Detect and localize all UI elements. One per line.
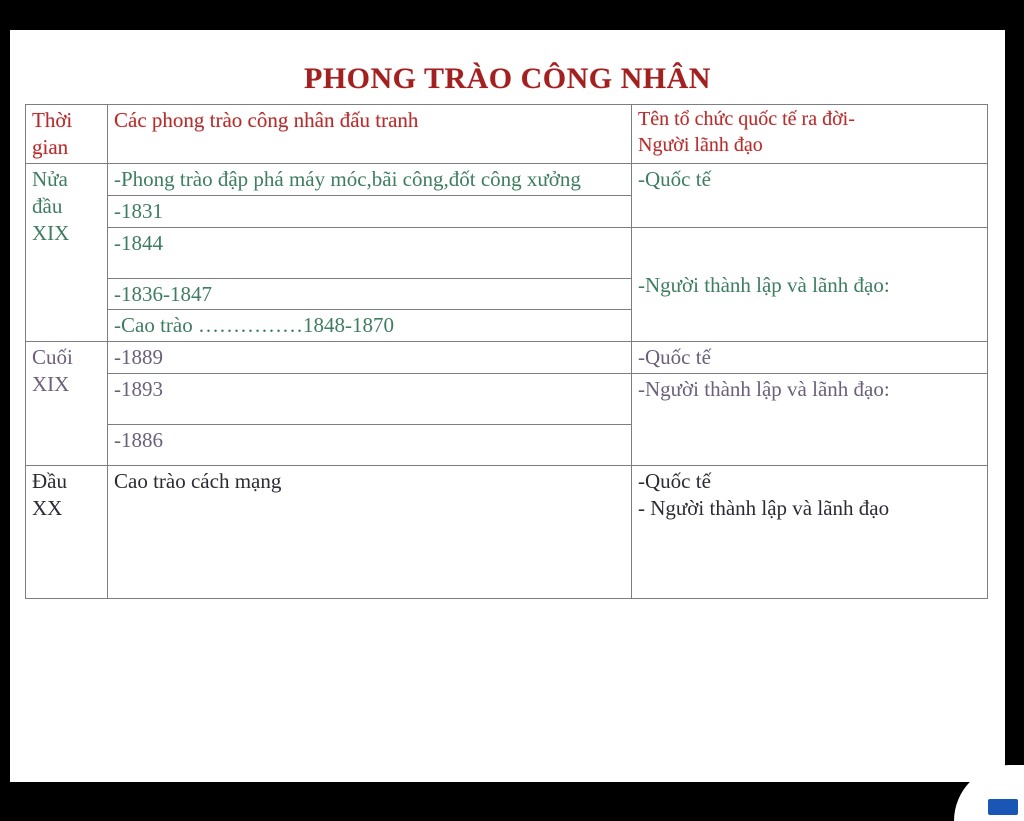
movement-cell: Cao trào cách mạng bbox=[108, 466, 632, 599]
page-title: PHONG TRÀO CÔNG NHÂN bbox=[10, 62, 1005, 96]
table-row: Nửa đầu XIX -Phong trào đập phá máy móc,… bbox=[26, 163, 988, 195]
period-cell-nua-dau-xix: Nửa đầu XIX bbox=[26, 163, 108, 342]
table-row: Đầu XX Cao trào cách mạng -Quốc tế - Ngư… bbox=[26, 466, 988, 599]
column-header-organization-line1: Tên tổ chức quốc tế ra đời- bbox=[638, 107, 981, 133]
column-header-organization-line2: Người lãnh đạo bbox=[638, 133, 981, 159]
period-cell-dau-xx: Đầu XX bbox=[26, 466, 108, 599]
movement-cell: -1886 bbox=[108, 425, 632, 466]
movement-cell: -Cao trào ……………1848-1870 bbox=[108, 310, 632, 342]
column-header-organization: Tên tổ chức quốc tế ra đời- Người lãnh đ… bbox=[632, 105, 988, 164]
table-row: -1844 -Người thành lập và lãnh đạo: bbox=[26, 227, 988, 278]
organization-cell-line1: -Quốc tế bbox=[632, 342, 988, 374]
document-page: PHONG TRÀO CÔNG NHÂN Thời gian Các phong… bbox=[10, 30, 1005, 782]
movement-cell: -1889 bbox=[108, 342, 632, 374]
movement-cell: -1831 bbox=[108, 195, 632, 227]
organization-line1: -Quốc tế bbox=[638, 468, 981, 495]
organization-cell-line2: -Người thành lập và lãnh đạo: bbox=[632, 374, 988, 466]
organization-line2: - Người thành lập và lãnh đạo bbox=[638, 495, 981, 522]
table-row: -1893 -Người thành lập và lãnh đạo: bbox=[26, 374, 988, 425]
period-line: đầu bbox=[32, 193, 101, 220]
movement-cell: -Phong trào đập phá máy móc,bãi công,đốt… bbox=[108, 163, 632, 195]
period-line: Đầu bbox=[32, 468, 101, 495]
organization-cell-line2: -Người thành lập và lãnh đạo: bbox=[632, 227, 988, 342]
period-line: XIX bbox=[32, 371, 101, 398]
period-line: Cuối bbox=[32, 344, 101, 371]
movement-cell: -1893 bbox=[108, 374, 632, 425]
period-line: XIX bbox=[32, 220, 101, 247]
table-header-row: Thời gian Các phong trào công nhân đấu t… bbox=[26, 105, 988, 164]
period-cell-cuoi-xix: Cuối XIX bbox=[26, 342, 108, 466]
organization-cell: -Quốc tế - Người thành lập và lãnh đạo bbox=[632, 466, 988, 599]
column-header-time: Thời gian bbox=[26, 105, 108, 164]
organization-leader-text: -Người thành lập và lãnh đạo: bbox=[638, 230, 981, 299]
movement-cell: -1844 bbox=[108, 227, 632, 278]
table-row: Cuối XIX -1889 -Quốc tế bbox=[26, 342, 988, 374]
period-line: XX bbox=[32, 495, 101, 522]
organization-cell-line1: -Quốc tế bbox=[632, 163, 988, 227]
blue-indicator-chip bbox=[988, 799, 1018, 815]
column-header-movements: Các phong trào công nhân đấu tranh bbox=[108, 105, 632, 164]
period-line: Nửa bbox=[32, 166, 101, 193]
movement-cell: -1836-1847 bbox=[108, 278, 632, 310]
worker-movement-table: Thời gian Các phong trào công nhân đấu t… bbox=[25, 104, 988, 599]
